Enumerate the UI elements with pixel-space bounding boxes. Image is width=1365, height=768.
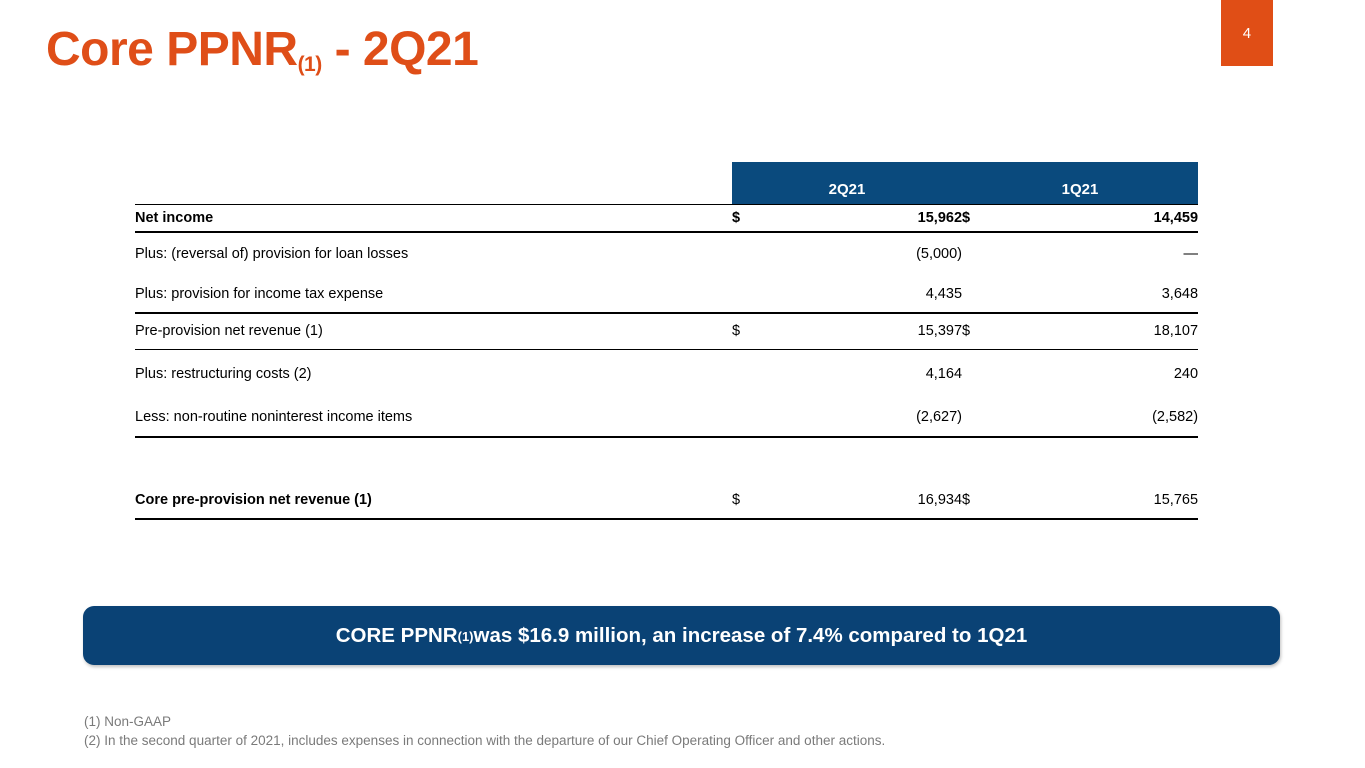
- row-currency-1q: [962, 350, 1002, 398]
- table-row: Plus: (reversal of) provision for loan l…: [135, 232, 1198, 276]
- spacer-cell: [962, 437, 1002, 483]
- row-value-1q: 18,107: [1002, 313, 1198, 350]
- table-row: Plus: restructuring costs (2) 4,164 240: [135, 350, 1198, 398]
- row-value-1q: (2,582): [1002, 398, 1198, 437]
- table-spacer-row: [135, 437, 1198, 483]
- row-label: Pre-provision net revenue (1): [135, 313, 732, 350]
- row-currency-1q: [962, 398, 1002, 437]
- table-header-blank: [135, 162, 732, 205]
- row-label: Plus: (reversal of) provision for loan l…: [135, 232, 732, 276]
- table-header-row: 2Q21 1Q21: [135, 162, 1198, 205]
- table-header-1q21: 1Q21: [962, 162, 1198, 205]
- row-currency-1q: [962, 276, 1002, 313]
- page-number-label: 4: [1243, 25, 1252, 42]
- row-value-2q: 4,164: [772, 350, 962, 398]
- row-label: Core pre-provision net revenue (1): [135, 483, 732, 519]
- row-value-1q: 14,459: [1002, 205, 1198, 232]
- page-title-main: Core PPNR: [46, 23, 298, 76]
- page-title-suffix: - 2Q21: [322, 23, 479, 76]
- page-title-footnote-ref: (1): [298, 53, 322, 76]
- row-value-2q: 16,934: [772, 483, 962, 519]
- row-label: Plus: restructuring costs (2): [135, 350, 732, 398]
- table-row: Core pre-provision net revenue (1) $ 16,…: [135, 483, 1198, 519]
- row-value-2q: 4,435: [772, 276, 962, 313]
- row-label: Plus: provision for income tax expense: [135, 276, 732, 313]
- row-label: Net income: [135, 205, 732, 232]
- highlight-banner-text-before: CORE PPNR: [336, 624, 458, 648]
- footnote-2: (2) In the second quarter of 2021, inclu…: [84, 731, 885, 750]
- row-value-1q: 3,648: [1002, 276, 1198, 313]
- table-row: Pre-provision net revenue (1) $ 15,397 $…: [135, 313, 1198, 350]
- row-currency-1q: $: [962, 313, 1002, 350]
- highlight-banner: CORE PPNR (1) was $16.9 million, an incr…: [83, 606, 1280, 665]
- spacer-cell: [772, 437, 962, 483]
- row-currency-2q: [732, 232, 772, 276]
- row-value-1q: 15,765: [1002, 483, 1198, 519]
- table-header-2q21: 2Q21: [732, 162, 962, 205]
- slide-canvas: 4 Core PPNR(1) - 2Q21 2Q21 1Q21 Net inco…: [0, 0, 1365, 768]
- row-currency-2q: $: [732, 483, 772, 519]
- row-value-1q: —: [1002, 232, 1198, 276]
- highlight-banner-footnote-ref: (1): [458, 629, 474, 644]
- row-currency-1q: $: [962, 205, 1002, 232]
- row-value-2q: (5,000): [772, 232, 962, 276]
- row-currency-2q: [732, 398, 772, 437]
- row-currency-1q: $: [962, 483, 1002, 519]
- row-currency-2q: [732, 350, 772, 398]
- row-currency-2q: [732, 276, 772, 313]
- row-value-2q: 15,397: [772, 313, 962, 350]
- table-row: Plus: provision for income tax expense 4…: [135, 276, 1198, 313]
- spacer-cell: [1002, 437, 1198, 483]
- table-row: Net income $ 15,962 $ 14,459: [135, 205, 1198, 232]
- row-value-2q: 15,962: [772, 205, 962, 232]
- row-value-2q: (2,627): [772, 398, 962, 437]
- page-title: Core PPNR(1) - 2Q21: [46, 22, 478, 77]
- spacer-cell: [732, 437, 772, 483]
- table-header-2q21-label: 2Q21: [829, 181, 866, 198]
- row-currency-2q: $: [732, 205, 772, 232]
- page-number-badge: 4: [1221, 0, 1273, 66]
- row-label: Less: non-routine noninterest income ite…: [135, 398, 732, 437]
- footnote-1: (1) Non-GAAP: [84, 712, 885, 731]
- footnotes: (1) Non-GAAP (2) In the second quarter o…: [84, 712, 885, 750]
- core-ppnr-table: 2Q21 1Q21 Net income $ 15,962 $ 14,459 P…: [135, 162, 1198, 520]
- row-value-1q: 240: [1002, 350, 1198, 398]
- row-currency-1q: [962, 232, 1002, 276]
- row-currency-2q: $: [732, 313, 772, 350]
- table-row: Less: non-routine noninterest income ite…: [135, 398, 1198, 437]
- highlight-banner-text-after: was $16.9 million, an increase of 7.4% c…: [474, 624, 1028, 648]
- table-header-1q21-label: 1Q21: [1062, 181, 1099, 198]
- spacer-cell: [135, 437, 732, 483]
